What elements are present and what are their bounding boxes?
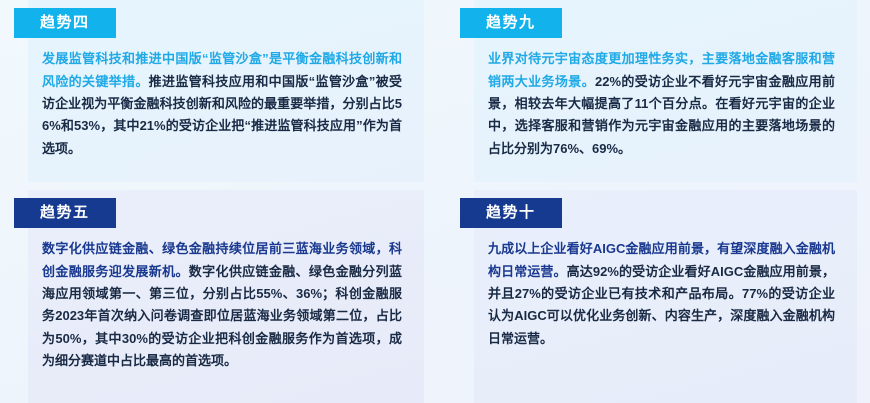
trend-card-1-badge: 趋势四 [14,8,116,38]
trend-card-2: 趋势九 业界对待元宇宙态度更加理性务实，主要落地金融客服和营销两大业务场景。22… [446,0,857,182]
trend-card-grid: 趋势四 发展监管科技和推进中国版“监管沙盒”是平衡金融科技创新和风险的关键举措。… [0,0,870,403]
trend-card-2-badge: 趋势九 [460,8,562,38]
trend-card-1: 趋势四 发展监管科技和推进中国版“监管沙盒”是平衡金融科技创新和风险的关键举措。… [0,0,424,182]
trend-card-1-body: 发展监管科技和推进中国版“监管沙盒”是平衡金融科技创新和风险的关键举措。推进监管… [42,48,402,160]
trend-card-2-body: 业界对待元宇宙态度更加理性务实，主要落地金融客服和营销两大业务场景。22%的受访… [488,48,835,160]
trend-card-3-body: 数字化供应链金融、绿色金融持续位居前三蓝海业务领域，科创金融服务迎发展新机。数字… [42,238,402,372]
trend-card-3: 趋势五 数字化供应链金融、绿色金融持续位居前三蓝海业务领域，科创金融服务迎发展新… [0,190,424,403]
trend-card-3-badge: 趋势五 [14,198,116,228]
trend-card-4-badge: 趋势十 [460,198,562,228]
trends-infographic: 趋势四 发展监管科技和推进中国版“监管沙盒”是平衡金融科技创新和风险的关键举措。… [0,0,870,403]
trend-card-3-rest: 数字化供应链金融、绿色金融分列蓝海应用领域第一、第三位，分别占比55%、36%；… [42,264,402,368]
trend-card-4-body: 九成以上企业看好AIGC金融应用前景，有望深度融入金融机构日常运营。高达92%的… [488,238,835,350]
trend-card-4: 趋势十 九成以上企业看好AIGC金融应用前景，有望深度融入金融机构日常运营。高达… [446,190,857,403]
